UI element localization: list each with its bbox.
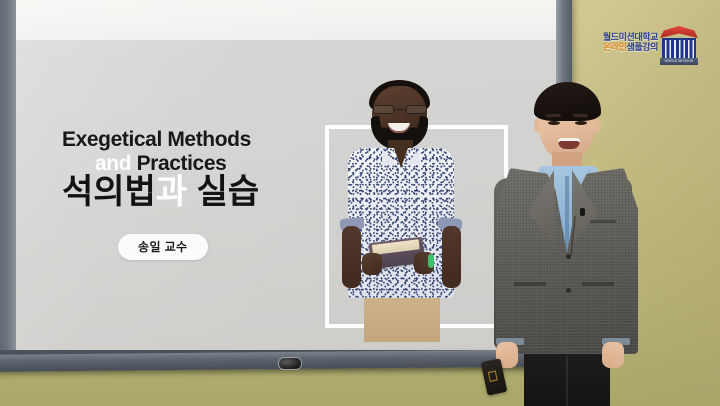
photo-man-arm-right: [442, 226, 461, 288]
whiteboard-marker: [278, 357, 302, 370]
university-emblem-icon: WORLD MISSION UNIVERSITY: [660, 26, 698, 66]
photo-man-arm-left: [342, 226, 361, 288]
whiteboard-top-band: [16, 0, 556, 40]
presenter-eye-right: [575, 121, 587, 125]
presenter-mouth: [558, 138, 580, 149]
lecture-type-label: 온라인샘플강의: [586, 42, 658, 52]
handheld-device-accent: [488, 371, 498, 382]
slide-title-korean: 석의법과 실습: [62, 175, 259, 211]
whiteboard-left-edge: [0, 0, 16, 350]
emblem-roof: [660, 26, 698, 38]
lapel-microphone-icon: [580, 208, 585, 216]
slide-title-en-text: Exegetical Methods: [62, 128, 251, 151]
emblem-columns: [662, 38, 696, 60]
university-logo: 월드미션대학교 온라인샘플강의 WORLD MISSION UNIVERSITY: [586, 26, 698, 66]
photo-man-collar-left: [382, 148, 396, 165]
bible-pages: [372, 239, 420, 255]
presenter-trouser-seam: [566, 356, 568, 406]
presenter-hair: [534, 82, 601, 121]
presenter-hand-right: [602, 342, 624, 368]
glasses-bridge: [394, 109, 406, 110]
presenter-blazer-button-bottom: [566, 288, 571, 293]
slide-title-ko-part2: 실습: [197, 173, 260, 211]
lecture-type-online: 온라인: [603, 42, 627, 52]
photo-man-collar-right: [406, 148, 420, 165]
emblem-base-text: WORLD MISSION UNIVERSITY: [660, 58, 698, 65]
glasses-right-lens: [406, 105, 427, 114]
presenter-chest-pocket: [590, 220, 616, 223]
presenter: [466, 76, 658, 406]
slide-title-en-and: and: [95, 152, 131, 175]
photo-man-trousers: [364, 292, 440, 342]
glasses-icon: [373, 105, 427, 114]
photo-man-hand-left: [362, 253, 382, 275]
presenter-eye-left: [548, 121, 560, 125]
slide-title-ko-gwa: 과: [156, 173, 187, 211]
wristband: [428, 254, 434, 268]
video-frame: Exegetical Methods and Practices 석의법과 실습…: [0, 0, 720, 406]
university-logo-text: 월드미션대학교 온라인샘플강의: [586, 32, 658, 52]
slide-photo-man: [340, 78, 462, 340]
presenter-pocket-left: [514, 282, 546, 286]
glasses-left-lens: [373, 105, 394, 114]
presenter-name-badge: 송일 교수: [118, 234, 208, 260]
slide-title-ko-part1: 석의법: [62, 173, 156, 211]
university-name: 월드미션대학교: [586, 32, 658, 42]
lecture-type-sample: 샘플강의: [626, 42, 658, 52]
slide-title-english-line1: Exegetical Methods: [62, 128, 251, 152]
slide-title-en-practices: Practices: [137, 152, 227, 175]
presenter-pocket-right: [582, 282, 614, 286]
